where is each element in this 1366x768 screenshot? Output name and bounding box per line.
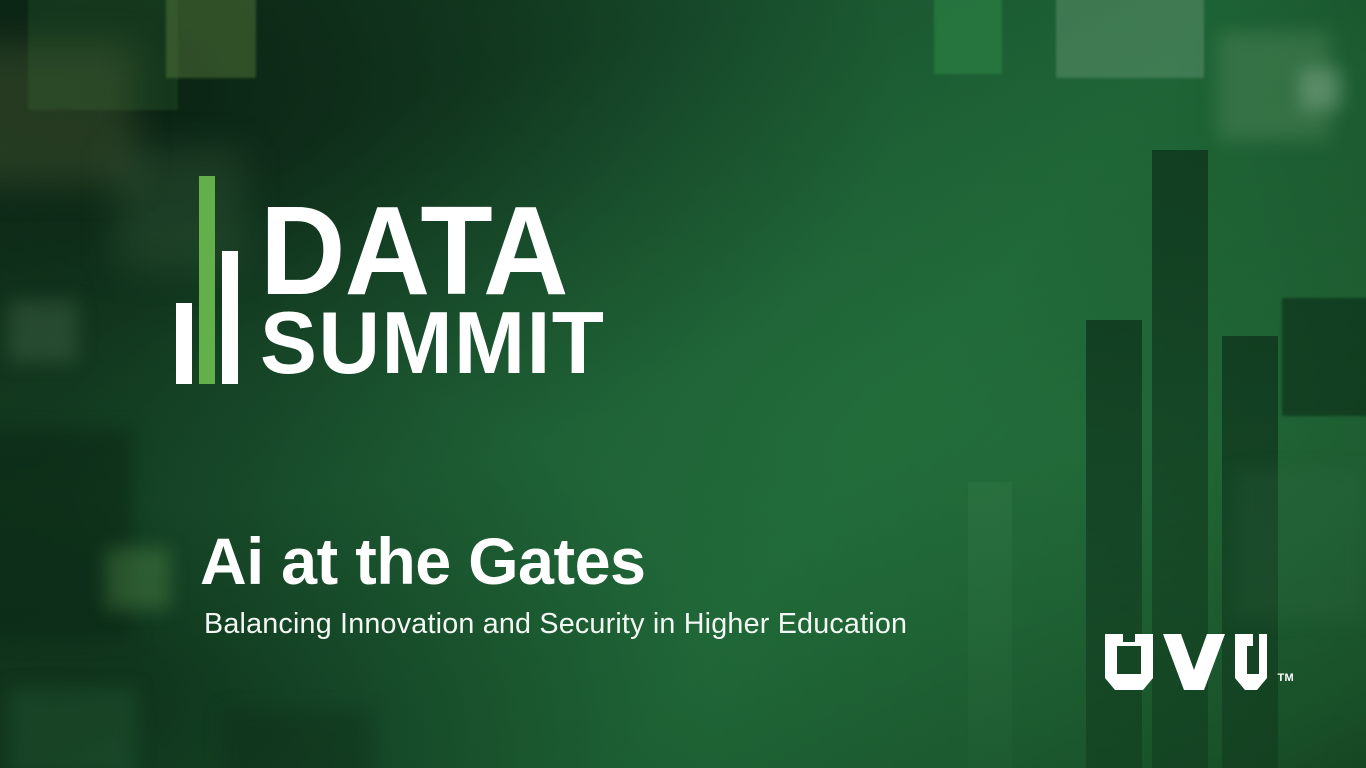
uvu-wordmark-icon	[1105, 634, 1273, 690]
uvu-logo: TM	[1105, 634, 1294, 690]
data-summit-logo: DATA SUMMIT	[176, 176, 616, 384]
logo-bar-3	[222, 251, 238, 384]
logo-bar-2	[199, 176, 215, 384]
bar-chart-icon	[176, 176, 238, 384]
title-block: Ai at the Gates Balancing Innovation and…	[200, 528, 914, 641]
data-summit-wordmark: DATA SUMMIT	[260, 193, 616, 384]
trademark-symbol: TM	[1278, 672, 1294, 684]
page-subtitle: Balancing Innovation and Security in Hig…	[204, 608, 907, 641]
logo-bar-1	[176, 303, 192, 384]
title-slide: DATA SUMMIT Ai at the Gates Balancing In…	[0, 0, 1366, 768]
logo-word-summit: SUMMIT	[260, 303, 605, 384]
page-title: Ai at the Gates	[200, 528, 900, 594]
logo-word-data: DATA	[260, 193, 595, 309]
